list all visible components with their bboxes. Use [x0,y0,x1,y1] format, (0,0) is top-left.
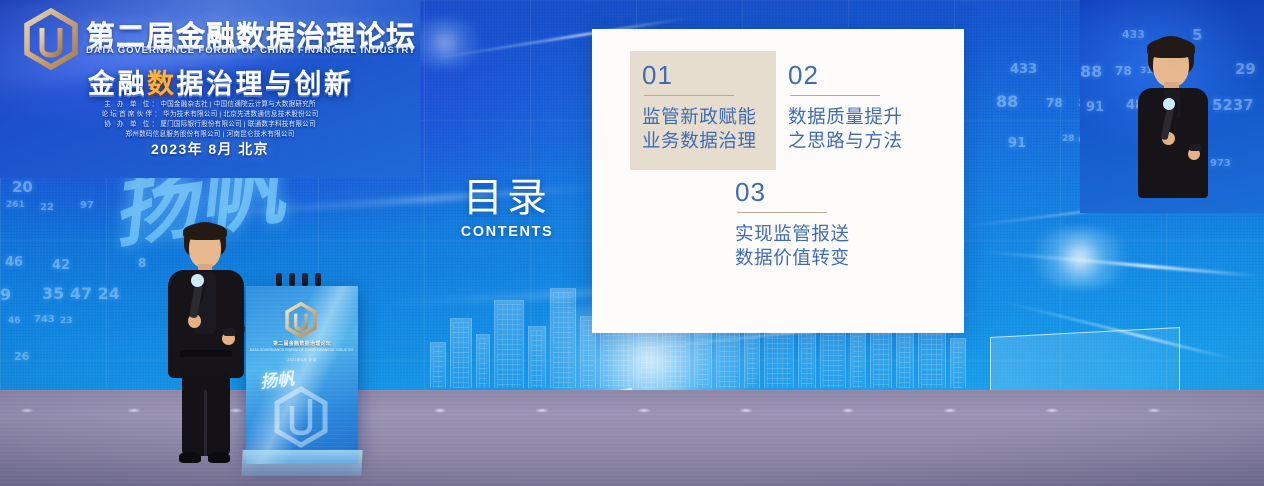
toc-label: 实现监管报送 数据价值转变 [735,222,885,270]
organizer-line: 协 办 单 位：厦门国际银行股份有限公司 | 联通数字科技有限公司 [0,118,420,128]
conference-stage-photo: 扬帆 819 6437 17 683 15 4 20 261 22 97 46 … [0,0,1264,486]
feed-number: 91 [1086,100,1104,115]
floor-marker [841,408,855,413]
organizer-label: 论坛首席伙伴： [101,111,163,118]
organizer-line: 论坛首席伙伴：华为技术有限公司 | 北京先进数通信息技术股份公司 [0,108,420,118]
backdrop-number: 22 [40,202,54,213]
organizer-line: 主 办 单 位：中国金融杂志社 | 中国信通院云计算与大数据研究所 [0,98,420,108]
toc-label: 数据质量提升 之思路与方法 [788,105,938,153]
video-feed-speaker [1126,36,1226,213]
theme-part-pre: 金融 [88,69,147,99]
backdrop-number: 91 [1008,136,1026,151]
hexagon-forum-logo-icon [22,8,80,70]
toc-item-03[interactable]: 03 实现监管报送 数据价值转变 [735,179,885,270]
presentation-slide: 01 监管新政赋能 业务数据治理 02 数据质量提升 之思路与方法 03 实现监… [592,29,964,333]
hexagon-forum-logo-icon [272,386,330,448]
organizer-value: 厦门国际银行股份有限公司 | 联通数字科技有限公司 [160,121,315,128]
banner-theme: 金融数据治理与创新 [88,62,354,101]
podium-date: 2023年8月 北京 [246,358,358,363]
toc-number: 01 [642,62,792,88]
floor-marker [739,408,753,413]
organizer-value: 华为技术有限公司 | 北京先进数通信息技术股份公司 [163,111,318,118]
toc-number: 02 [788,62,938,88]
banner-date-location: 2023年 8月 北京 [0,139,420,159]
feed-number: 88 [1080,62,1102,81]
toc-label: 监管新政赋能 业务数据治理 [642,105,792,153]
backdrop-number: 88 [996,92,1018,111]
floor-marker [433,408,447,413]
podium-title: 第二届金融数据治理论坛 [246,340,358,347]
floor-marker [1147,408,1161,413]
backdrop-number: 20 [12,178,33,196]
toc-item-02[interactable]: 02 数据质量提升 之思路与方法 [788,62,938,153]
floor-marker [1045,408,1059,413]
organizer-value: 中国金融杂志社 | 中国信通院云计算与大数据研究所 [160,101,315,108]
floor-marker [637,408,651,413]
belt [180,350,232,357]
theme-highlight-char: 数 [147,69,177,99]
trouser-gap [204,390,207,456]
podium-microphones [276,273,326,287]
floor-marker [943,408,957,413]
toc-number: 03 [735,179,885,205]
toc-divider [737,212,827,213]
floor-marker [127,408,141,413]
hexagon-forum-logo-icon [284,302,318,338]
backdrop-number: 433 [1010,62,1037,77]
toc-divider [644,95,734,96]
contents-title-cn: 目录 [447,178,567,218]
contents-title-en: CONTENTS [447,224,567,240]
banner-subtitle-en: DATA GOVERNANCE FORUM OF CHINA FINANCIAL… [86,45,416,56]
backdrop-number: 28 [1062,134,1075,144]
organizer-value: 郑州数码信息服务股份有限公司 | 河南昆仑技术有限公司 [125,131,294,138]
toc-item-01[interactable]: 01 监管新政赋能 业务数据治理 [642,62,792,153]
theme-part-post: 据治理与创新 [177,69,354,99]
backdrop-number: 97 [80,200,94,211]
podium-subtitle: DATA GOVERNANCE FORUM OF CHINA FINANCIAL… [246,348,358,352]
toc-divider [790,95,880,96]
floor-marker [20,408,34,413]
organizer-label: 主 办 单 位： [104,101,160,108]
feed-number: 29 [1235,60,1256,78]
event-banner: 第二届金融数据治理论坛 DATA GOVERNANCE FORUM OF CHI… [0,0,420,178]
floor-marker [535,408,549,413]
event-podium: 第二届金融数据治理论坛 DATA GOVERNANCE FORUM OF CHI… [246,286,358,464]
contents-heading: 目录 CONTENTS [447,178,567,240]
speaker-video-feed: 433 5 88 78 31 29 91 48 5237 973 [1080,0,1264,213]
organizer-label: 协 办 单 位： [104,121,160,128]
on-stage-speaker [152,222,262,470]
backdrop-number: 261 [6,200,25,210]
organizer-line: 郑州数码信息服务股份有限公司 | 河南昆仑技术有限公司 [0,128,420,138]
backdrop-number: 78 [1046,96,1063,110]
